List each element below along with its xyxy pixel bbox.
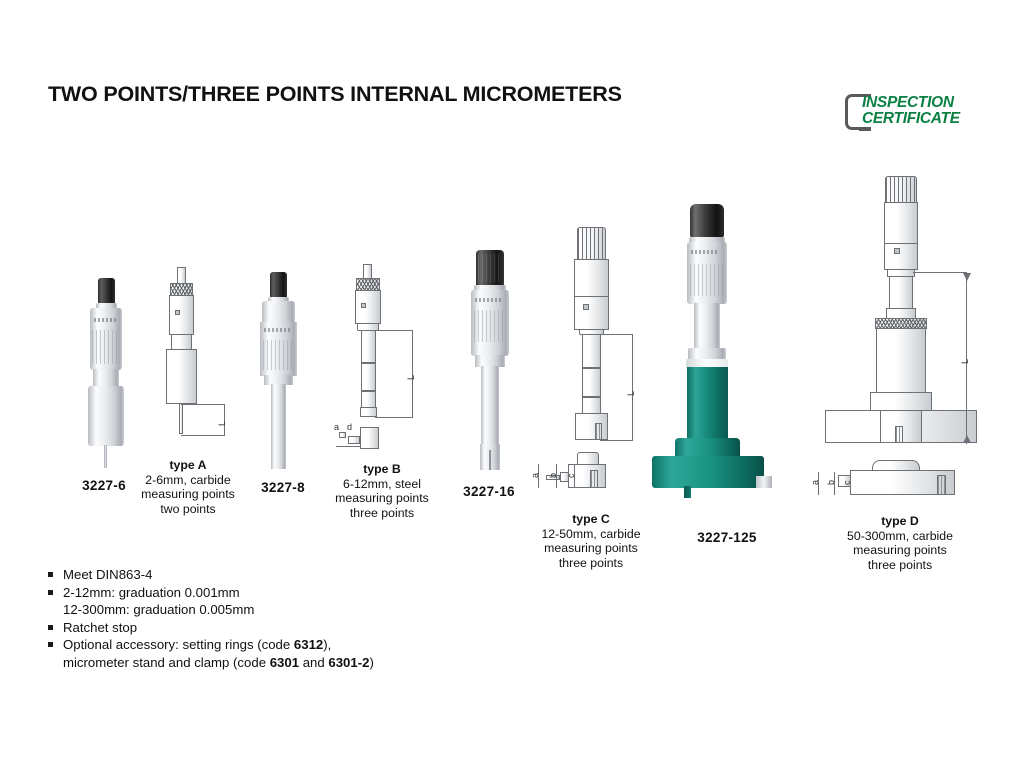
feature-item: 2-12mm: graduation 0.001mm [47, 584, 507, 602]
sleeve-window [175, 310, 180, 315]
shaft-joint-2 [582, 396, 601, 398]
feature-item-optional-accessory: Optional accessory: setting rings (code … [47, 636, 507, 654]
base-contact [895, 426, 903, 443]
measuring-probe [104, 445, 107, 468]
detail-dim-label-c: c [842, 481, 852, 486]
product-3227-125: 3227-125 [632, 198, 822, 545]
dim-label-L: L [406, 375, 416, 380]
sleeve-window [583, 304, 589, 310]
dim-line-bottom [600, 440, 633, 441]
accessory-text-1b: ), [323, 637, 331, 652]
detail-contact [937, 475, 946, 495]
detail-dim-label-b: b [548, 473, 558, 478]
measuring-contact [595, 423, 602, 440]
spindle-tip [363, 264, 372, 279]
product-type-d-label: type D [800, 514, 1000, 529]
base-foot-left [684, 486, 691, 498]
product-type-d-desc-2: measuring points [800, 543, 1000, 558]
feature-text: Ratchet stop [63, 620, 137, 635]
thimble [884, 243, 918, 270]
sleeve-window [894, 248, 900, 254]
measuring-head [360, 407, 377, 417]
brand-mark [264, 328, 290, 332]
thimble [169, 295, 194, 335]
upper-barrel [884, 202, 918, 244]
bullet-icon [48, 572, 53, 577]
accessory-text-2a: micrometer stand and clamp (code [63, 655, 270, 670]
main-body [876, 328, 926, 393]
extension-shaft [271, 384, 286, 469]
fluted-ratchet-cap [885, 176, 917, 203]
product-type-d-desc-1: 50-300mm, carbide [800, 529, 1000, 544]
product-type-d: L a b c type D 50-300mm, carbide measuri… [800, 172, 1000, 572]
brand-mark [691, 250, 719, 254]
dim-line-top [375, 330, 413, 331]
dim-arrow-bottom [963, 435, 971, 443]
feature-subtext: 12-300mm: graduation 0.005mm [47, 601, 507, 619]
upper-barrel [574, 259, 609, 297]
detail-collar [348, 436, 360, 444]
accessory-text-2mid: and [299, 655, 328, 670]
detail-contact [590, 470, 598, 488]
shaft-joint-1 [582, 367, 601, 369]
thimble [574, 296, 609, 330]
shaft-joint-1 [361, 362, 376, 364]
detail-dim-label-a: a [530, 473, 540, 478]
upper-barrel [262, 301, 295, 323]
certificate-line-2: CERTIFICATE [862, 111, 960, 127]
accessory-text-2b: ) [369, 655, 373, 670]
brand-mark [475, 298, 502, 302]
bullet-icon [48, 590, 53, 595]
thimble-graduations [474, 310, 506, 342]
body-flange [870, 392, 932, 412]
accessory-code-6301-2: 6301-2 [328, 655, 369, 670]
detail-dim-label-a: a [810, 480, 820, 485]
detail-dim-label-c: c [566, 474, 576, 479]
teal-body [687, 367, 728, 441]
feature-text: 2-12mm: graduation 0.001mm [63, 585, 240, 600]
accessory-second-line: micrometer stand and clamp (code 6301 an… [47, 654, 507, 672]
product-type-d-desc-3: three points [800, 558, 1000, 573]
dim-line-bottom [375, 417, 413, 418]
teal-base-plate [652, 456, 764, 488]
extension-shaft [481, 366, 499, 446]
ratchet-cap [690, 204, 724, 238]
feature-item: Ratchet stop [47, 619, 507, 637]
ratchet-cap [270, 272, 287, 298]
thimble-graduations [690, 264, 724, 296]
detail-dim-line [336, 446, 360, 447]
thimble [355, 290, 381, 324]
shaft [361, 330, 376, 417]
measuring-head [575, 413, 608, 440]
ratchet-cap [98, 278, 115, 304]
shaft [582, 334, 601, 414]
certificate-label: INSPECTION CERTIFICATE [862, 95, 960, 127]
product-type-c-desc-3: three points [516, 556, 666, 571]
body-barrel [166, 349, 197, 404]
dim-label-L: L [960, 359, 970, 364]
accessory-code-6312: 6312 [294, 637, 323, 652]
feature-text: Meet DIN863-4 [63, 567, 152, 582]
product-3227-125-code: 3227-125 [632, 530, 822, 545]
product-type-a-desc-3: two points [118, 502, 258, 517]
accessory-code-6301: 6301 [270, 655, 299, 670]
product-type-b-desc-3: three points [312, 506, 452, 521]
inspection-certificate-logo: INSPECTION CERTIFICATE [845, 92, 985, 134]
dim-line-top [913, 272, 967, 273]
measuring-slot [489, 450, 491, 470]
feature-list: Meet DIN863-4 2-12mm: graduation 0.001mm… [47, 566, 507, 672]
detail-dim-label-b: b [826, 480, 836, 485]
sleeve-window [361, 303, 366, 308]
detail-dim-label-d: d [347, 422, 352, 432]
detail-tip [339, 432, 346, 438]
cap-ribs [478, 254, 502, 282]
dim-line-top [600, 334, 633, 335]
dim-arrow-top [963, 273, 971, 281]
detail-dim-label-a: a [334, 422, 339, 432]
brand-mark [94, 318, 116, 322]
thimble-graduations [263, 340, 294, 370]
detail-head-body [360, 427, 379, 449]
bullet-icon [48, 625, 53, 630]
feature-item: Meet DIN863-4 [47, 566, 507, 584]
taper-section [171, 334, 192, 350]
bullet-icon [48, 642, 53, 647]
fluted-ratchet-cap [577, 227, 606, 260]
product-type-d-drawing: L a b c [800, 172, 1000, 512]
measuring-probe [179, 403, 183, 434]
taper-section [93, 369, 119, 387]
spindle-tip [177, 267, 186, 284]
certificate-line-1: INSPECTION [862, 95, 960, 111]
shaft-joint-2 [361, 390, 376, 392]
neck [889, 276, 913, 309]
accessory-text-1a: Optional accessory: setting rings (code [63, 637, 294, 652]
product-3227-125-image [632, 198, 822, 498]
base-foot-right [756, 476, 772, 488]
thimble-graduations [92, 330, 120, 364]
page-title: TWO POINTS/THREE POINTS INTERNAL MICROME… [48, 82, 622, 107]
